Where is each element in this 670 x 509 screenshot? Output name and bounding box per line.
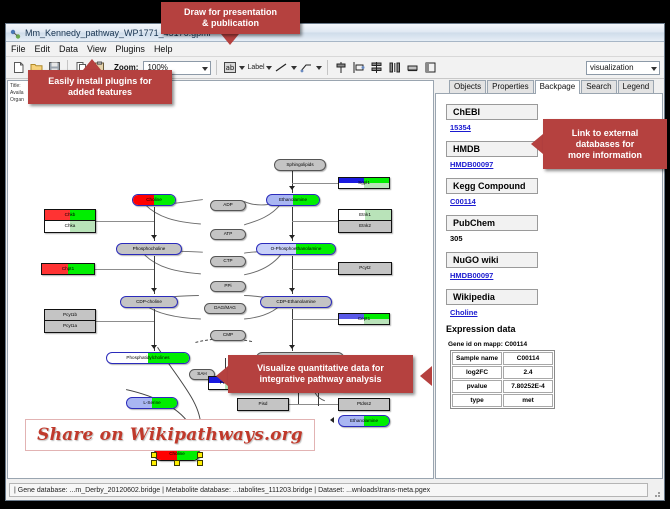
gene-box-ptdss2[interactable]: Ptdss2 — [338, 398, 390, 411]
align-stack-icon[interactable] — [369, 60, 385, 76]
gene-box-cept1[interactable]: Cept1 — [338, 313, 390, 325]
section-header-kegg: Kegg Compound — [446, 178, 538, 194]
plugins-callout: Easily install plugins for added feature… — [28, 70, 172, 104]
cell-value: 2.4 — [503, 366, 553, 379]
node-l-serine-left[interactable]: L-Serine — [126, 397, 178, 409]
node-cmp[interactable]: CMP — [210, 330, 246, 341]
node-phosphocholine[interactable]: Phosphocholine — [116, 243, 182, 255]
edge-sgpl1 — [292, 183, 338, 184]
selection-handle[interactable] — [174, 460, 180, 466]
node-label: PPi — [224, 284, 231, 289]
menu-file[interactable]: File — [11, 44, 26, 54]
section-header-chebi: ChEBI — [446, 104, 538, 120]
arrow-icon — [151, 235, 157, 239]
expression-data-heading: Expression data — [446, 324, 662, 334]
arrow-icon — [289, 288, 295, 292]
title-bar: Mm_Kennedy_pathway_WP1771_45176.gpml — [6, 24, 664, 42]
arrow-icon — [289, 235, 295, 239]
cell-key: pvalue — [452, 380, 502, 393]
link-wikipedia[interactable]: Choline — [450, 308, 662, 317]
gene-label-etnk2: Etnk2 — [359, 224, 371, 229]
node-label: O-Phosphoethanolamine — [271, 247, 322, 252]
draw-callout-tail — [221, 34, 239, 45]
gene-label: Pcyt2 — [359, 266, 371, 271]
node-label: CDP-choline — [136, 300, 162, 305]
node-o-phosphoethanolamine[interactable]: O-Phosphoethanolamine — [256, 243, 336, 255]
databases-callout-line3: more information — [568, 150, 642, 161]
tab-backpage[interactable]: Backpage — [535, 80, 581, 94]
cell-value: C00114 — [503, 352, 553, 365]
pathvisio-icon — [10, 27, 21, 38]
distribute-icon[interactable] — [387, 60, 403, 76]
node-label: DAG/MAG — [214, 306, 236, 311]
gene-label-chkb: Chkb — [65, 213, 76, 218]
databases-callout-line1: Link to external — [572, 128, 639, 139]
status-bar: | Gene database: ...m_Derby_20120602.bri… — [6, 480, 664, 500]
node-cdp-choline[interactable]: CDP-choline — [120, 296, 178, 308]
label-dropdown-caption: Label — [247, 64, 264, 71]
table-row: Sample name C00114 — [452, 352, 553, 365]
plugins-callout-line1: Easily install plugins for — [48, 76, 152, 87]
meta-title: Title: — [10, 83, 24, 90]
gene-label: Cept1 — [358, 317, 370, 322]
edge-ptdss2 — [289, 404, 338, 405]
menu-help[interactable]: Help — [154, 44, 173, 54]
menu-view[interactable]: View — [87, 44, 106, 54]
node-ethanolamine[interactable]: Ethanolamine — [266, 194, 320, 206]
node-label: Sphingolipids — [286, 163, 313, 168]
node-cdp-ethanolamine[interactable]: CDP-Ethanolamine — [260, 296, 332, 308]
group-icon[interactable] — [405, 60, 421, 76]
section-header-hmdb: HMDB — [446, 141, 538, 157]
tab-legend[interactable]: Legend — [618, 80, 655, 93]
tab-properties[interactable]: Properties — [487, 80, 533, 93]
arrow-icon — [151, 345, 157, 349]
draw-callout: Draw for presentation & publication — [161, 2, 300, 34]
node-label: CMP — [223, 333, 233, 338]
node-label: SAH — [197, 372, 206, 377]
visualization-combo[interactable]: visualization — [586, 61, 660, 75]
tab-search[interactable]: Search — [581, 80, 616, 93]
share-callout-text: Share on Wikipathways.org — [37, 425, 303, 445]
cell-key: Sample name — [452, 352, 502, 365]
visualize-callout-tail — [216, 366, 228, 386]
arrow-icon — [151, 288, 157, 292]
node-label: Ethanolamine — [279, 198, 307, 203]
arrow-icon — [289, 186, 295, 190]
side-panel-tabs[interactable]: Objects Properties Backpage Search Legen… — [435, 80, 663, 94]
node-label: Choline — [169, 452, 185, 457]
align-center-icon[interactable] — [333, 60, 349, 76]
section-header-pubchem: PubChem — [446, 215, 538, 231]
node-ppi[interactable]: PPi — [210, 281, 246, 292]
edge-chpt1 — [95, 269, 154, 270]
cell-key: log2FC — [452, 366, 502, 379]
line-icon[interactable] — [274, 60, 290, 76]
order-icon[interactable] — [423, 60, 439, 76]
gene-box-pcyt1[interactable]: Pcyt1b Pcyt1a — [44, 309, 96, 333]
node-label: Ethanolamine — [350, 419, 378, 424]
node-sphingolipids[interactable]: Sphingolipids — [274, 159, 326, 171]
chevron-down-icon[interactable] — [316, 66, 322, 70]
gene-box-sgpl1[interactable]: Sgpl1 — [338, 177, 390, 189]
draw-callout-line1: Draw for presentation — [184, 7, 277, 18]
node-phosphatidylcholines[interactable]: Phosphatidylcholines — [106, 352, 190, 364]
visualization-value: visualization — [590, 63, 634, 72]
cell-value: 7.80252E-4 — [503, 380, 553, 393]
plugins-callout-line2: added features — [68, 87, 132, 98]
tab-objects[interactable]: Objects — [449, 80, 486, 93]
edge-cept1 — [292, 319, 338, 320]
link-kegg[interactable]: C00114 — [450, 197, 662, 206]
meta-avail: Availa — [10, 90, 24, 97]
chevron-down-icon[interactable] — [266, 66, 272, 70]
text-style-icon[interactable]: ab — [222, 60, 238, 76]
gene-label-pcyt1a: Pcyt1a — [63, 324, 77, 329]
text-style-dropdown[interactable]: ab — [222, 60, 245, 76]
toolbar-separator-2 — [216, 60, 217, 75]
menu-edit[interactable]: Edit — [35, 44, 51, 54]
toolbar-separator-3 — [327, 60, 328, 75]
draw-callout-line2: & publication — [202, 18, 259, 29]
node-adp[interactable]: ADP — [210, 200, 246, 211]
gene-label: Ptdss2 — [357, 402, 371, 407]
gene-label-pcyt1b: Pcyt1b — [63, 313, 77, 318]
gene-box-etnk[interactable]: Etnk1 Etnk2 — [338, 209, 392, 233]
databases-callout-tail-2 — [420, 366, 432, 386]
arrow-icon — [289, 345, 295, 349]
chevron-down-icon — [651, 67, 657, 71]
plugins-callout-tail — [83, 59, 101, 70]
chevron-down-icon — [202, 67, 208, 71]
table-row: log2FC 2.4 — [452, 366, 553, 379]
table-row: type met — [452, 394, 553, 407]
gene-label-chka: Chka — [65, 224, 76, 229]
visualize-callout-line2: integrative pathway analysis — [259, 374, 381, 385]
meta-organ: Organ — [10, 97, 24, 104]
node-dag-mag[interactable]: DAG/MAG — [204, 303, 246, 314]
menu-data[interactable]: Data — [59, 44, 78, 54]
arrow-icon — [330, 417, 334, 423]
node-choline-top[interactable]: Choline — [132, 194, 176, 206]
visualize-callout: Visualize quantitative data for integrat… — [228, 355, 413, 393]
node-ctp[interactable]: CTP — [210, 256, 246, 267]
gene-box-pcyt2[interactable]: Pcyt2 — [338, 262, 392, 275]
new-file-icon[interactable] — [10, 60, 26, 76]
gene-label: Sgpl1 — [358, 181, 370, 186]
databases-callout-line2: databases for — [576, 139, 635, 150]
node-label: Phosphatidylcholines — [126, 356, 169, 361]
node-label: ATP — [224, 232, 233, 237]
edge-chk — [96, 221, 154, 222]
cell-key: type — [452, 394, 502, 407]
value-pubchem: 305 — [450, 234, 662, 243]
interaction-icon[interactable] — [299, 60, 315, 76]
node-label: CTP — [223, 259, 232, 264]
screenshot-root: Mm_Kennedy_pathway_WP1771_45176.gpml Fil… — [0, 0, 670, 509]
status-text: | Gene database: ...m_Derby_20120602.bri… — [9, 483, 648, 497]
gene-label: Chpt1 — [62, 267, 74, 272]
databases-callout-tail — [531, 134, 543, 154]
visualize-callout-line1: Visualize quantitative data for — [257, 363, 384, 374]
expression-table: Sample name C00114 log2FC 2.4 pvalue 7.8… — [450, 350, 555, 409]
edge-etnk — [292, 221, 338, 222]
align-left-icon[interactable] — [351, 60, 367, 76]
selection-handle[interactable] — [197, 460, 203, 466]
menu-bar[interactable]: File Edit Data View Plugins Help — [6, 42, 664, 57]
line-dropdown[interactable] — [274, 60, 297, 76]
node-atp[interactable]: ATP — [210, 229, 246, 240]
gene-box-chpt1[interactable]: Chpt1 — [41, 263, 95, 275]
node-label: ADP — [223, 203, 232, 208]
selection-handle[interactable] — [197, 452, 203, 458]
edge-pcyt2 — [292, 269, 338, 270]
menu-plugins[interactable]: Plugins — [115, 44, 145, 54]
gene-id-label: Gene id on mapp: C00114 — [448, 341, 662, 348]
link-nugo[interactable]: HMDB00097 — [450, 271, 662, 280]
node-label: CDP-Ethanolamine — [276, 300, 315, 305]
cell-value: met — [503, 394, 553, 407]
node-label: L-Serine — [143, 401, 160, 406]
selection-handle[interactable] — [151, 460, 157, 466]
chevron-down-icon[interactable] — [239, 66, 245, 70]
pathway-meta: Title: Availa Organ — [10, 83, 24, 104]
share-callout: Share on Wikipathways.org — [25, 419, 315, 451]
node-label: Phosphocholine — [133, 247, 166, 252]
label-dropdown[interactable]: Label — [247, 64, 271, 71]
databases-callout: Link to external databases for more info… — [543, 119, 667, 169]
resize-grip-icon[interactable] — [651, 485, 661, 495]
node-ethanolamine-right[interactable]: Ethanolamine — [338, 415, 390, 427]
gene-box-pisd[interactable]: Pisd — [237, 398, 289, 411]
gene-label: Pisd — [259, 402, 268, 407]
section-header-wikipedia: Wikipedia — [446, 289, 538, 305]
svg-text:ab: ab — [226, 64, 235, 72]
node-label: Choline — [146, 198, 162, 203]
interaction-dropdown[interactable] — [299, 60, 322, 76]
edge-pcyt1 — [96, 321, 154, 322]
selection-handle[interactable] — [151, 452, 157, 458]
chevron-down-icon[interactable] — [291, 66, 297, 70]
table-row: pvalue 7.80252E-4 — [452, 380, 553, 393]
section-header-nugo: NuGO wiki — [446, 252, 538, 268]
gene-label-etnk1: Etnk1 — [359, 213, 371, 218]
gene-box-chk[interactable]: Chkb Chka — [44, 209, 96, 233]
